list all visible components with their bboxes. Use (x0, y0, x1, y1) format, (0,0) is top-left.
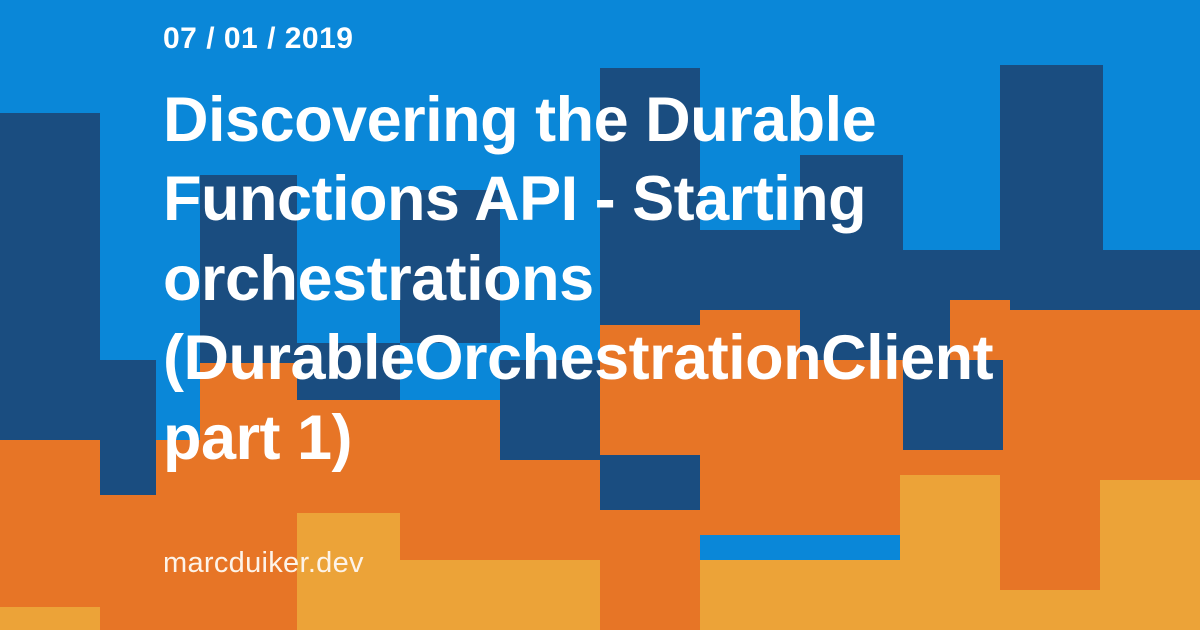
site-domain: marcduiker.dev (163, 548, 364, 580)
blog-social-card: 07 / 01 / 2019 Discovering the Durable F… (0, 0, 1200, 630)
page-title: Discovering the Durable Functions API - … (163, 81, 1123, 478)
card-content: 07 / 01 / 2019 Discovering the Durable F… (0, 0, 1200, 630)
publish-date: 07 / 01 / 2019 (163, 22, 1130, 55)
